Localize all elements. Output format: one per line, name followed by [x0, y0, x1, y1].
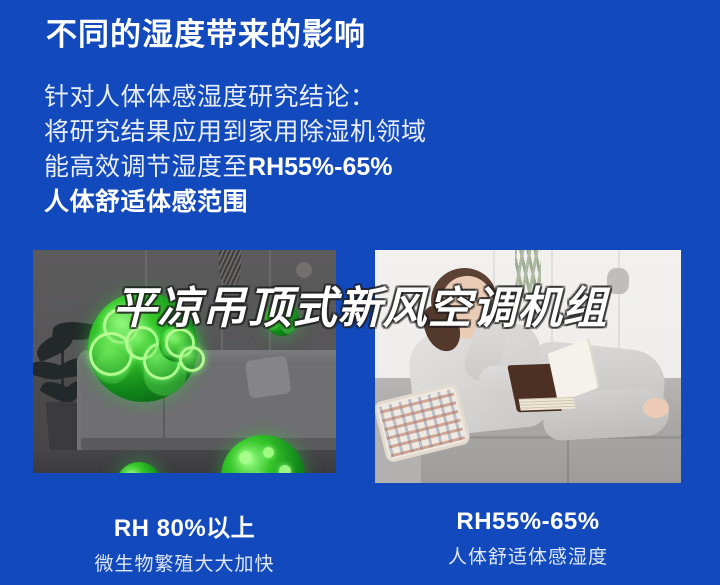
woman-foot	[643, 398, 669, 418]
microbe-spike-icon	[239, 451, 252, 464]
caption-high-humidity: RH 80%以上 微生物繁殖大大加快	[33, 508, 336, 576]
microbe-spike-icon	[263, 447, 274, 458]
pendant-lamp-icon	[219, 250, 241, 286]
dark-living-room-illustration	[33, 250, 336, 473]
microbe-icon	[221, 435, 305, 473]
body-line-1: 针对人体体感湿度研究结论：	[44, 80, 427, 115]
hanging-plant-icon	[515, 250, 541, 298]
sofa-seam	[567, 440, 569, 483]
caption-subtitle: 微生物繁殖大大加快	[33, 549, 336, 576]
microbe-icon	[265, 302, 299, 336]
wall-dot-icon	[296, 262, 312, 278]
body-line-3: 能高效调节湿度至RH55%-65%	[44, 150, 427, 185]
sofa-seam	[163, 396, 165, 440]
wall-knob-icon	[607, 268, 629, 294]
page-title: 不同的湿度带来的影响	[46, 16, 366, 55]
caption-title: RH55%-65%	[375, 508, 681, 536]
body-line-4: 人体舒适体感范围	[44, 185, 427, 220]
caption-subtitle: 人体舒适体感湿度	[375, 542, 681, 569]
microbe-icon	[116, 462, 162, 473]
photo-high-humidity	[33, 250, 336, 473]
body-copy: 针对人体体感湿度研究结论： 将研究结果应用到家用除湿机领域 能高效调节湿度至RH…	[44, 80, 427, 220]
body-line-3-prefix: 能高效调节湿度至	[44, 153, 248, 181]
book-page-edges	[519, 397, 576, 411]
microbe-spike-icon	[279, 465, 291, 473]
body-line-2: 将研究结果应用到家用除湿机领域	[44, 115, 427, 150]
caption-title: RH 80%以上	[33, 508, 336, 543]
photo-comfort-humidity	[375, 250, 681, 483]
sofa-cushion	[245, 355, 292, 398]
caption-comfort-humidity: RH55%-65% 人体舒适体感湿度	[375, 508, 681, 569]
bright-living-room-illustration	[375, 250, 681, 483]
poster-canvas: 不同的湿度带来的影响 针对人体体感湿度研究结论： 将研究结果应用到家用除湿机领域…	[0, 0, 720, 585]
body-line-3-value: RH55%-65%	[248, 153, 393, 181]
microbe-cell-icon	[179, 346, 205, 372]
